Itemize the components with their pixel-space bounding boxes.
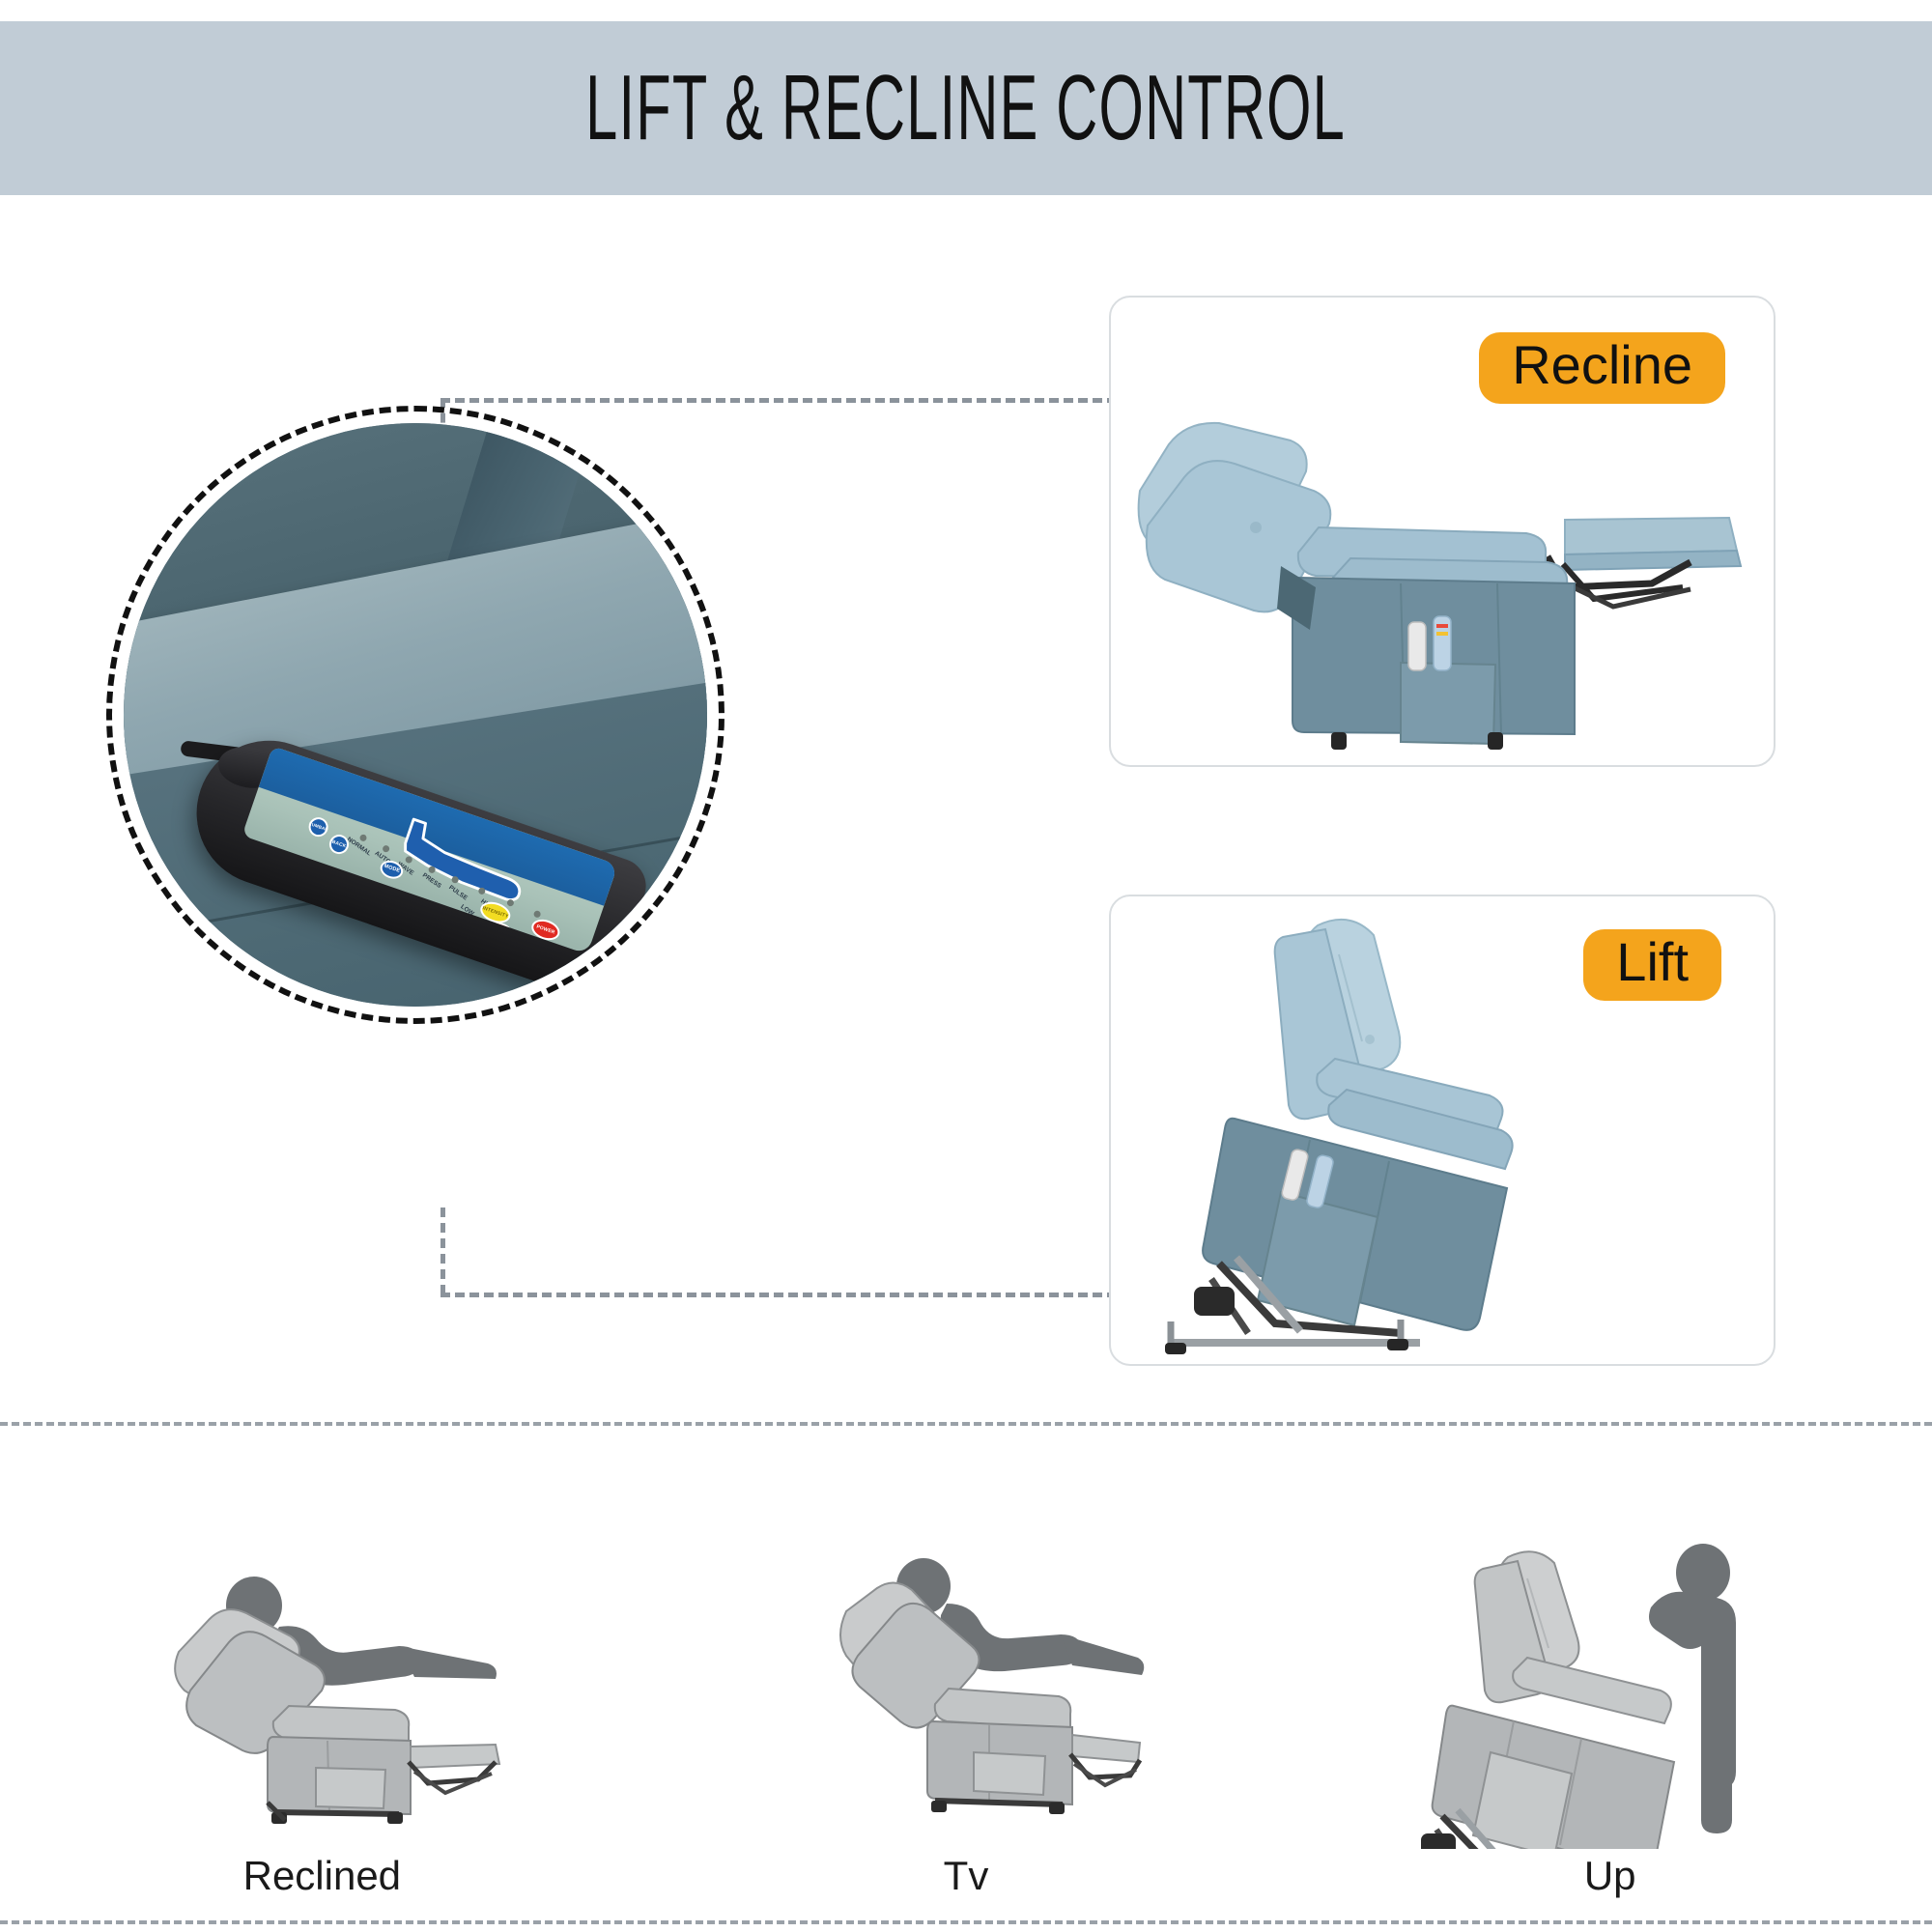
bottom-section-divider-top [0,1422,1932,1426]
chair-up-illustration [1398,1530,1823,1849]
connector-line-top-horizontal [440,398,1117,403]
position-label-reclined: Reclined [243,1853,401,1899]
position-item-up: Up [1288,1430,1932,1913]
panel-lift: Lift [1109,895,1776,1366]
remote-detail-circle: NORMAL AUTO WAVE PRESS PULSE HIGH LOW LU… [106,406,724,1024]
connector-line-bottom-horizontal [440,1293,1117,1297]
position-label-up: Up [1584,1853,1636,1899]
badge-recline: Recline [1479,332,1725,404]
position-item-tv: Tv [644,1430,1289,1913]
page-header-band: LIFT & RECLINE CONTROL [0,21,1932,195]
page-title: LIFT & RECLINE CONTROL [586,55,1347,161]
connector-line-bottom-vertical [440,1207,445,1294]
panel-recline: Recline [1109,296,1776,767]
position-label-tv: Tv [944,1853,989,1899]
badge-recline-label: Recline [1512,338,1692,392]
position-figure-tv [753,1530,1179,1849]
bottom-section-divider-bottom [0,1920,1932,1924]
position-figure-up [1398,1530,1823,1849]
chair-tv-illustration [753,1530,1179,1849]
detail-circle-outline [106,406,724,1024]
chair-positions-row: Reclined [0,1430,1932,1913]
position-item-reclined: Reclined [0,1430,644,1913]
badge-lift-label: Lift [1616,935,1689,989]
badge-lift: Lift [1583,929,1721,1001]
position-figure-reclined [109,1530,534,1849]
chair-reclined-illustration [109,1530,534,1849]
